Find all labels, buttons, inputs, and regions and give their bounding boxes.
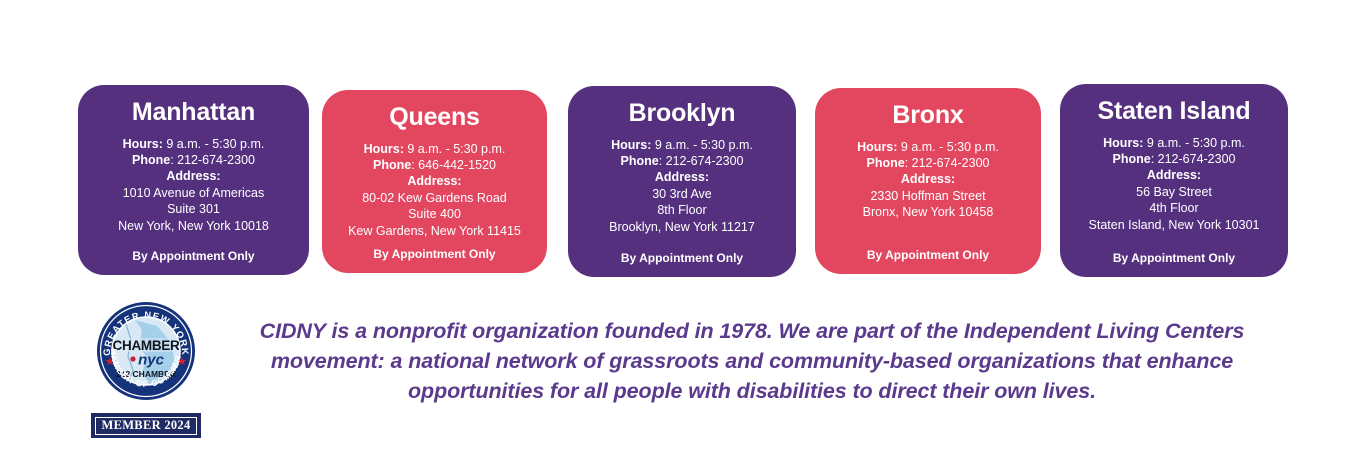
- location-hours-label: Hours:: [1103, 136, 1143, 150]
- location-address-line: 56 Bay Street: [1089, 184, 1260, 200]
- location-card-staten-island: Staten IslandHours: 9 a.m. - 5:30 p.m.Ph…: [1060, 84, 1288, 277]
- chamber-of-commerce-seal-icon: CHAMBER nyc 212 CHAMBER GREATER NEW YORK…: [95, 300, 197, 402]
- location-card-brooklyn: BrooklynHours: 9 a.m. - 5:30 p.m.Phone: …: [568, 86, 796, 277]
- location-card-details: Hours: 9 a.m. - 5:30 p.m.Phone: 212-674-…: [1089, 135, 1260, 233]
- location-hours-row: Hours: 9 a.m. - 5:30 p.m.: [1089, 135, 1260, 151]
- location-address-line: 30 3rd Ave: [609, 186, 755, 202]
- location-hours-label: Hours:: [857, 140, 897, 154]
- member-year-label: MEMBER 2024: [95, 417, 197, 435]
- location-address-line: Suite 301: [118, 201, 269, 217]
- location-card-details: Hours: 9 a.m. - 5:30 p.m.Phone: 646-442-…: [348, 141, 521, 239]
- location-address-label: Address:: [857, 171, 999, 187]
- location-card-details: Hours: 9 a.m. - 5:30 p.m.Phone: 212-674-…: [857, 139, 999, 221]
- location-phone-value[interactable]: : 212-674-2300: [905, 156, 990, 170]
- location-appointment-note: By Appointment Only: [322, 247, 547, 261]
- location-card-title: Bronx: [892, 102, 963, 130]
- chamber-member-badge: CHAMBER nyc 212 CHAMBER GREATER NEW YORK…: [86, 300, 206, 442]
- location-hours-label: Hours:: [123, 137, 163, 151]
- location-address-line: New York, New York 10018: [118, 218, 269, 234]
- location-card-title: Brooklyn: [629, 100, 736, 128]
- location-hours-row: Hours: 9 a.m. - 5:30 p.m.: [857, 139, 999, 155]
- location-phone-value[interactable]: : 212-674-2300: [1151, 152, 1236, 166]
- location-hours-value: 9 a.m. - 5:30 p.m.: [404, 142, 505, 156]
- location-phone-row[interactable]: Phone: 212-674-2300: [118, 152, 269, 168]
- location-address-label: Address:: [348, 173, 521, 189]
- locations-card-row: ManhattanHours: 9 a.m. - 5:30 p.m.Phone:…: [0, 0, 1366, 290]
- location-card-title: Staten Island: [1098, 98, 1251, 126]
- location-appointment-note: By Appointment Only: [1060, 251, 1288, 265]
- bottom-section: CHAMBER nyc 212 CHAMBER GREATER NEW YORK…: [0, 290, 1366, 459]
- location-address-line: 4th Floor: [1089, 200, 1260, 216]
- location-appointment-note: By Appointment Only: [78, 249, 309, 263]
- location-address-label: Address:: [609, 169, 755, 185]
- location-phone-value[interactable]: : 212-674-2300: [170, 153, 255, 167]
- location-phone-label: Phone: [132, 153, 170, 167]
- location-address-line: Brooklyn, New York 11217: [609, 219, 755, 235]
- location-appointment-note: By Appointment Only: [568, 251, 796, 265]
- location-hours-row: Hours: 9 a.m. - 5:30 p.m.: [118, 136, 269, 152]
- location-address-line: Staten Island, New York 10301: [1089, 217, 1260, 233]
- location-card-queens: QueensHours: 9 a.m. - 5:30 p.m.Phone: 64…: [322, 90, 547, 273]
- location-phone-row[interactable]: Phone: 646-442-1520: [348, 157, 521, 173]
- location-address-line: Kew Gardens, New York 11415: [348, 223, 521, 239]
- location-phone-label: Phone: [867, 156, 905, 170]
- location-phone-label: Phone: [373, 158, 411, 172]
- mission-statement: CIDNY is a nonprofit organization founde…: [222, 316, 1282, 406]
- location-address-label: Address:: [118, 168, 269, 184]
- location-address-line: 1010 Avenue of Americas: [118, 185, 269, 201]
- member-year-banner: MEMBER 2024: [91, 413, 201, 438]
- svg-text:nyc: nyc: [138, 352, 165, 369]
- location-phone-row[interactable]: Phone: 212-674-2300: [1089, 151, 1260, 167]
- location-phone-label: Phone: [620, 154, 658, 168]
- location-card-bronx: BronxHours: 9 a.m. - 5:30 p.m.Phone: 212…: [815, 88, 1041, 274]
- location-hours-label: Hours:: [364, 142, 404, 156]
- location-phone-row[interactable]: Phone: 212-674-2300: [609, 153, 755, 169]
- location-card-details: Hours: 9 a.m. - 5:30 p.m.Phone: 212-674-…: [118, 136, 269, 234]
- location-appointment-note: By Appointment Only: [815, 248, 1041, 262]
- location-address-line: 80-02 Kew Gardens Road: [348, 190, 521, 206]
- location-hours-value: 9 a.m. - 5:30 p.m.: [163, 137, 264, 151]
- location-address-label: Address:: [1089, 167, 1260, 183]
- location-card-details: Hours: 9 a.m. - 5:30 p.m.Phone: 212-674-…: [609, 137, 755, 235]
- location-hours-row: Hours: 9 a.m. - 5:30 p.m.: [609, 137, 755, 153]
- location-phone-value[interactable]: : 646-442-1520: [411, 158, 496, 172]
- location-phone-value[interactable]: : 212-674-2300: [659, 154, 744, 168]
- location-address-line: 8th Floor: [609, 202, 755, 218]
- location-card-title: Queens: [389, 104, 480, 132]
- location-phone-label: Phone: [1113, 152, 1151, 166]
- location-address-line: Suite 400: [348, 206, 521, 222]
- location-phone-row[interactable]: Phone: 212-674-2300: [857, 155, 999, 171]
- location-address-line: Bronx, New York 10458: [857, 204, 999, 220]
- location-address-line: 2330 Hoffman Street: [857, 188, 999, 204]
- location-hours-row: Hours: 9 a.m. - 5:30 p.m.: [348, 141, 521, 157]
- location-hours-value: 9 a.m. - 5:30 p.m.: [897, 140, 998, 154]
- location-card-title: Manhattan: [132, 99, 255, 127]
- location-hours-label: Hours:: [611, 138, 651, 152]
- location-hours-value: 9 a.m. - 5:30 p.m.: [651, 138, 752, 152]
- location-card-manhattan: ManhattanHours: 9 a.m. - 5:30 p.m.Phone:…: [78, 85, 309, 275]
- location-hours-value: 9 a.m. - 5:30 p.m.: [1143, 136, 1244, 150]
